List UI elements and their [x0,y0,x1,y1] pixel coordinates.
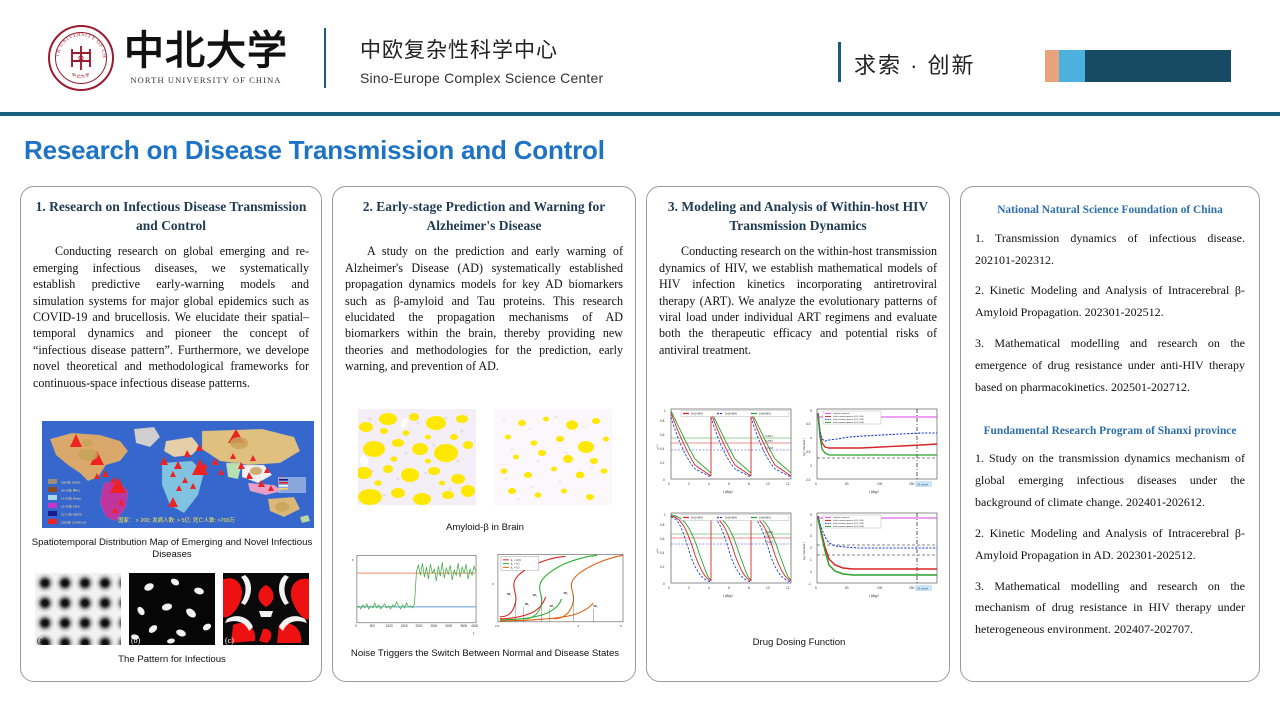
svg-text:2020年 COVID-19: 2020年 COVID-19 [61,520,86,525]
svg-text:η⁽ᴬ⁾: η⁽ᴬ⁾ [656,444,660,449]
svg-text:0.6: 0.6 [660,537,665,541]
pattern-label-b: (b) [131,636,140,645]
svg-text:0.4: 0.4 [660,447,665,451]
card-title: 1. Research on Infectious Disease Transm… [21,187,321,235]
svg-text:6: 6 [728,482,730,486]
seal-ring-icon: NORTH UNIVERSITY OF CHINA 中北大学 [50,27,112,89]
university-name-cn: 中北大学 [124,31,288,71]
color-bar-orange [1045,50,1059,82]
svg-text:SP₄: SP₄ [550,604,554,608]
svg-text:1000: 1000 [386,624,393,628]
svg-text:0: 0 [663,478,665,482]
funding-item: 1. Transmission dynamics of infectious d… [975,228,1245,272]
svg-text:0: 0 [663,582,665,586]
svg-text:0: 0 [815,482,817,486]
pattern-label-c: (c) [225,636,234,645]
svg-text:4: 4 [810,523,812,527]
noise-figure-caption: Noise Triggers the Switch Between Normal… [343,648,627,660]
svg-text:2: 2 [688,586,690,590]
svg-text:with treatment pattern (A3)+(B: with treatment pattern (A3)+(B4) [833,525,864,528]
svg-text:(A1)+(B4): (A1)+(B4) [691,517,703,520]
card-body: Conducting research on global emerging a… [21,235,321,391]
svg-text:2: 2 [810,546,812,550]
svg-text:0.3027: 0.3027 [765,434,773,438]
svg-text:t: t [473,631,475,636]
svg-text:10: 10 [766,586,770,590]
svg-text:12: 12 [786,586,790,590]
card-alzheimers: 2. Early-stage Prediction and Warning fo… [332,186,636,682]
svg-text:500: 500 [370,624,376,628]
funding-heading-nsfc: National Natural Science Foundation of C… [975,203,1245,218]
page-title: Research on Disease Transmission and Con… [24,135,605,166]
svg-text:(A3)+(B4): (A3)+(B4) [759,517,771,520]
viral-load-chart-2: without treatment with treatment pattern… [801,507,943,607]
amyloid-figure-row [347,409,623,505]
svg-text:0.5415: 0.5415 [765,540,773,544]
color-bar-lightblue [1059,50,1085,82]
pattern-figure-row: (a) [31,573,313,645]
pattern-c-svg [223,573,309,645]
svg-text:with treatment pattern (A2)+(B: with treatment pattern (A2)+(B4) [833,418,864,421]
svg-text:100: 100 [877,482,883,486]
svg-text:10: 10 [766,482,770,486]
svg-text:3: 3 [810,464,812,468]
noise-switch-chart-row: 05001000 150020002500 300035004000 x t [343,551,627,639]
svg-text:without treatment: without treatment [833,517,850,519]
svg-text:3: 3 [810,534,812,538]
svg-text:-1: -1 [808,582,811,586]
svg-text:4: 4 [577,624,579,628]
card-title: 3. Modeling and Analysis of Within-host … [647,187,949,235]
map-figure-caption: Spatiotemporal Distribution Map of Emerg… [31,537,313,562]
svg-text:2.5: 2.5 [806,478,811,482]
svg-text:2500: 2500 [430,624,437,628]
dosing-chart-b: (A1)+(B4) (A2)+(B4) (A3)+(B4) 0.68240.62… [655,507,797,607]
amyloid-panel-right [494,409,612,505]
svg-text:1: 1 [664,409,666,413]
university-name-en: NORTH UNIVERSITY OF CHINA [130,75,281,85]
svg-text:0: 0 [668,586,670,590]
svg-text:SP₁: SP₁ [507,592,511,596]
svg-text:2003年 SARS: 2003年 SARS [61,480,80,485]
svg-text:0.2: 0.2 [660,461,665,465]
svg-text:3.5: 3.5 [806,450,811,454]
noise-timeseries-chart: 05001000 150020002500 300035004000 x t [343,551,482,639]
funding-item: 3. Mathematical modelling and research o… [975,576,1245,641]
svg-text:26 week: 26 week [917,483,929,487]
center-name-cn: 中欧复杂性科学中心 [360,34,603,64]
map-overlay-stats: 国家： > 200; 发病人数: > 5亿; 死亡人数: >700万 [118,516,236,524]
svg-text:2: 2 [688,482,690,486]
svg-text:lg( viral load ): lg( viral load ) [802,542,806,559]
pattern-panel-c: (c) [223,573,309,645]
svg-text:k₂ = 0.01: k₂ = 0.01 [511,559,522,562]
svg-text:x: x [352,558,354,562]
card-hiv-dynamics: 3. Modeling and Analysis of Within-host … [646,186,950,682]
svg-text:50: 50 [845,482,849,486]
svg-text:中北大学: 中北大学 [71,71,91,80]
svg-text:0: 0 [668,482,670,486]
world-map-figure: 2003年 SARS 09-10年 甲H1 14-15年 Ebola 15-16… [42,421,314,528]
svg-text:with treatment pattern (A1)+(B: with treatment pattern (A1)+(B4) [833,415,864,418]
card-body: Conducting research on the within-host t… [647,235,949,358]
funding-item: 2. Kinetic Modeling and Analysis of Intr… [975,280,1245,324]
svg-text:1: 1 [664,513,666,517]
svg-text:4000: 4000 [471,624,478,628]
amyloid-right-svg [494,409,612,505]
svg-text:0.2: 0.2 [660,565,665,569]
dosing-chart-a: (A1)+(B4) (A2)+(B4) (A3)+(B4) 0.30270.25… [655,403,797,503]
svg-text:X: X [492,582,494,586]
funding-item: 1. Study on the transmission dynamics me… [975,448,1245,513]
svg-text:4: 4 [810,436,812,440]
center-name-en: Sino-Europe Complex Science Center [360,70,603,86]
svg-text:2000: 2000 [415,624,422,628]
svg-text:(A1)+(B4): (A1)+(B4) [691,413,703,416]
center-name-block: 中欧复杂性科学中心 Sino-Europe Complex Science Ce… [360,34,603,86]
bifurcation-chart: SP₁SP₂SP₃ SP₄SP₅SP₆ k₂ = 0.01 k₂ = 0.2 k… [488,551,627,639]
slide-page: NORTH UNIVERSITY OF CHINA 中北大学 中北大学 NORT… [0,0,1280,720]
svg-text:without treatment: without treatment [833,413,850,415]
card-funding: National Natural Science Foundation of C… [960,186,1260,682]
university-logo: NORTH UNIVERSITY OF CHINA 中北大学 中北大学 NORT… [48,25,288,91]
color-bar-darkblue [1085,50,1231,82]
amyloid-figure-caption: Amyloid-β in Brain [343,522,627,534]
svg-text:(A2)+(B4): (A2)+(B4) [725,517,737,520]
svg-text:(A2)+(B4): (A2)+(B4) [725,413,737,416]
svg-text:4: 4 [708,482,710,486]
funding-item: 3. Mathematical modelling and research o… [975,333,1245,398]
svg-text:0.1948: 0.1948 [765,446,773,450]
svg-text:0: 0 [810,570,812,574]
hiv-chart-grid: (A1)+(B4) (A2)+(B4) (A3)+(B4) 0.30270.25… [655,403,943,607]
pattern-figure-caption: The Pattern for Infectious [31,654,313,666]
svg-text:09-10年 甲H1: 09-10年 甲H1 [61,488,80,493]
viral-load-chart-1: without treatment with treatment pattern… [801,403,943,503]
svg-text:8: 8 [748,482,750,486]
amyloid-left-svg [358,409,476,505]
svg-text:150: 150 [909,586,915,590]
funding-group-gap [975,408,1245,424]
header-bottom-rule [0,112,1280,116]
svg-text:t (day): t (day) [869,594,879,598]
hiv-figure-caption: Drug Dosing Function [657,637,941,649]
pattern-label-a: (a) [37,636,46,645]
svg-text:with treatment pattern (A3)+(B: with treatment pattern (A3)+(B4) [833,421,864,424]
svg-text:lg( viral load ): lg( viral load ) [802,438,806,455]
svg-text:0.8: 0.8 [660,419,665,423]
svg-text:k₂ = 0.3: k₂ = 0.3 [511,566,520,569]
svg-text:12-17年 MERS: 12-17年 MERS [61,512,82,517]
header-color-bars [1045,50,1231,82]
svg-text:5: 5 [810,513,812,517]
svg-text:6: 6 [728,586,730,590]
svg-text:0.6221: 0.6221 [765,535,773,539]
amyloid-panel-left [358,409,476,505]
svg-text:with treatment pattern (A2)+(B: with treatment pattern (A2)+(B4) [833,522,864,525]
svg-text:0: 0 [355,624,357,628]
svg-text:150: 150 [909,482,915,486]
svg-text:k₂ = 0.2: k₂ = 0.2 [511,563,520,566]
svg-text:0.6824: 0.6824 [765,530,773,534]
svg-text:(A3)+(B4): (A3)+(B4) [759,413,771,416]
card-body: A study on the prediction and early warn… [333,235,635,375]
header-divider [324,28,326,88]
svg-text:100: 100 [877,586,883,590]
svg-text:4.5: 4.5 [806,422,811,426]
svg-text:12: 12 [786,482,790,486]
pattern-panel-b: (b) [129,573,215,645]
svg-text:SP₆: SP₆ [593,604,597,608]
svg-text:t (day): t (day) [723,490,733,494]
svg-text:1: 1 [810,558,812,562]
svg-text:0: 0 [815,586,817,590]
motto-divider [838,42,841,82]
svg-text:14-15年 Ebola: 14-15年 Ebola [61,496,81,501]
svg-text:50: 50 [845,586,849,590]
svg-text:0.6: 0.6 [660,433,665,437]
svg-text:t (day): t (day) [869,490,879,494]
page-header: NORTH UNIVERSITY OF CHINA 中北大学 中北大学 NORT… [0,0,1280,110]
svg-text:η⁽ᴮ⁾: η⁽ᴮ⁾ [656,548,660,553]
pattern-panel-a: (a) [35,573,121,645]
funding-item: 2. Kinetic Modeling and Analysis of Intr… [975,523,1245,567]
svg-text:5: 5 [620,624,622,628]
svg-text:26 week: 26 week [917,587,929,591]
svg-text:5: 5 [810,409,812,413]
svg-text:1500: 1500 [401,624,408,628]
map-mini-legend-right [278,477,306,493]
svg-text:4: 4 [708,586,710,590]
svg-text:8: 8 [748,586,750,590]
motto-text: 求索 · 创新 [854,48,976,80]
svg-text:3500: 3500 [460,624,467,628]
svg-text:0.4: 0.4 [660,551,665,555]
svg-text:with treatment pattern (A1)+(B: with treatment pattern (A1)+(B4) [833,519,864,522]
svg-text:3000: 3000 [445,624,452,628]
pattern-b-svg [129,573,215,645]
svg-text:t (day): t (day) [723,594,733,598]
card-infectious-disease: 1. Research on Infectious Disease Transm… [20,186,322,682]
world-map-svg: 2003年 SARS 09-10年 甲H1 14-15年 Ebola 15-16… [42,421,314,528]
svg-text:0.8: 0.8 [660,523,665,527]
svg-text:SP₂: SP₂ [525,602,529,606]
university-seal-icon: NORTH UNIVERSITY OF CHINA 中北大学 [48,25,114,91]
funding-heading-shanxi: Fundamental Research Program of Shanxi p… [975,424,1245,439]
svg-text:SP₅: SP₅ [563,591,567,595]
svg-text:0.2557: 0.2557 [765,439,773,443]
svg-text:15-16年 ZIKA: 15-16年 ZIKA [61,504,81,509]
svg-text:SP₃: SP₃ [533,593,537,597]
card-title: 2. Early-stage Prediction and Warning fo… [333,187,635,235]
svg-text:2.5: 2.5 [495,624,500,628]
